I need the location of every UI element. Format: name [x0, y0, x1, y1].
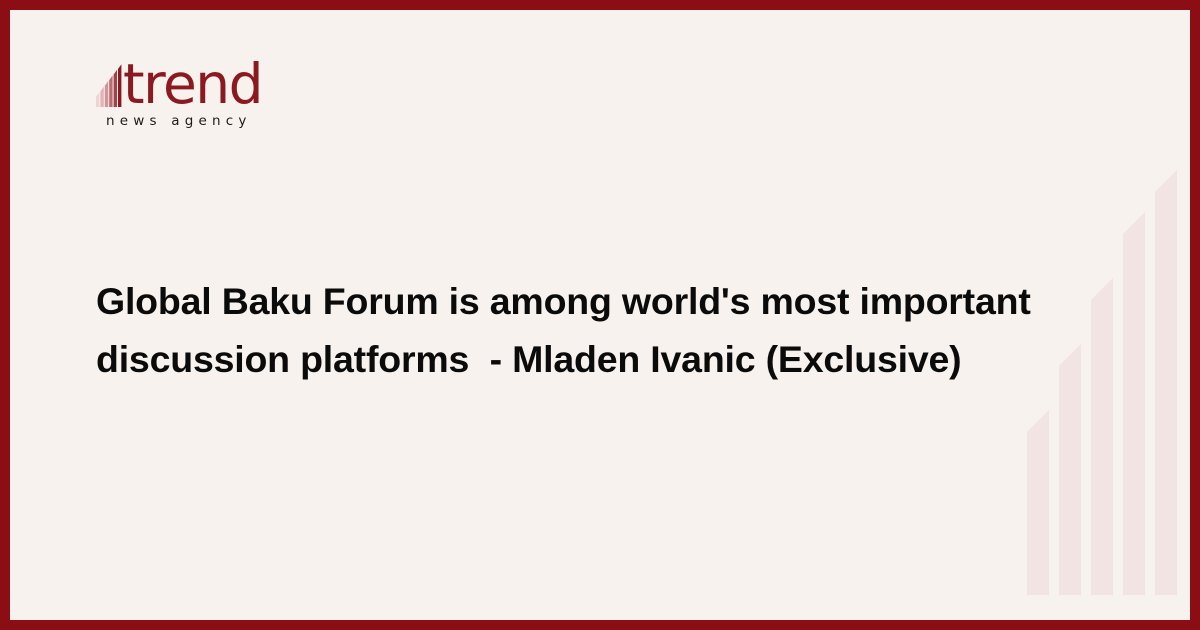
- ascending-bars-icon: [96, 59, 122, 107]
- logo-wordmark-text: trend: [123, 58, 262, 110]
- brand-logo[interactable]: trend news agency: [96, 48, 296, 129]
- social-card: trend news agency Global Baku Forum is a…: [0, 0, 1200, 630]
- logo-wordmark-row: trend: [96, 48, 296, 110]
- card-content-area: trend news agency Global Baku Forum is a…: [10, 10, 1190, 620]
- headline-title: Global Baku Forum is among world's most …: [96, 272, 1071, 388]
- logo-tagline: news agency: [106, 113, 296, 129]
